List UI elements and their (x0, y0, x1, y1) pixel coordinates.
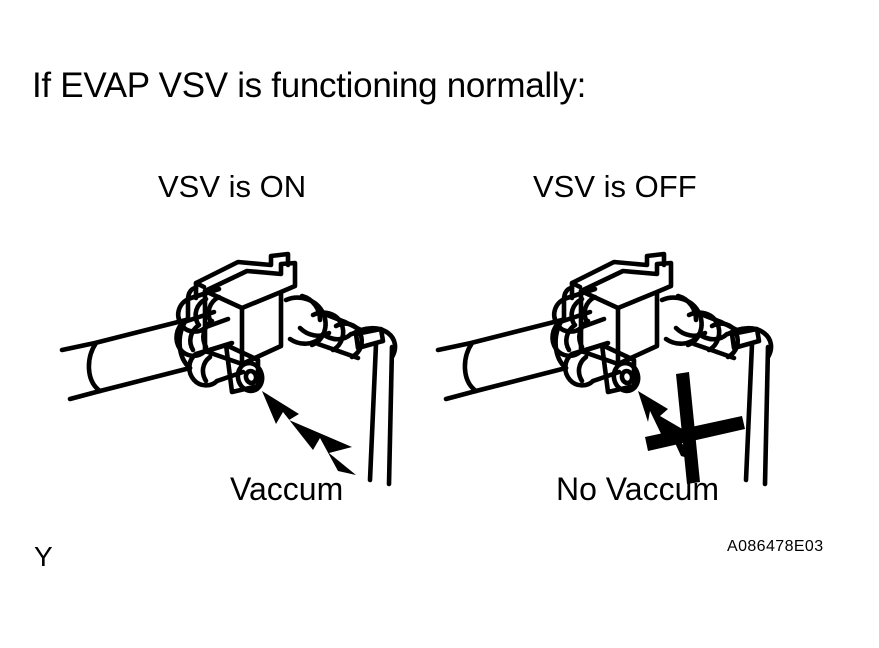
vsv-valve-right (438, 254, 771, 484)
vacuum-port-nipple-left (226, 345, 265, 393)
diagram-canvas: If EVAP VSV is functioning normally: VSV… (0, 0, 879, 648)
vsv-illustrations (0, 0, 879, 648)
vacuum-arrow-left[interactable] (262, 391, 356, 475)
inlet-hose-right (438, 320, 566, 399)
inlet-hose-left (62, 320, 190, 399)
vacuum-port-nipple-right (602, 345, 641, 393)
vsv-valve-left (62, 254, 395, 484)
